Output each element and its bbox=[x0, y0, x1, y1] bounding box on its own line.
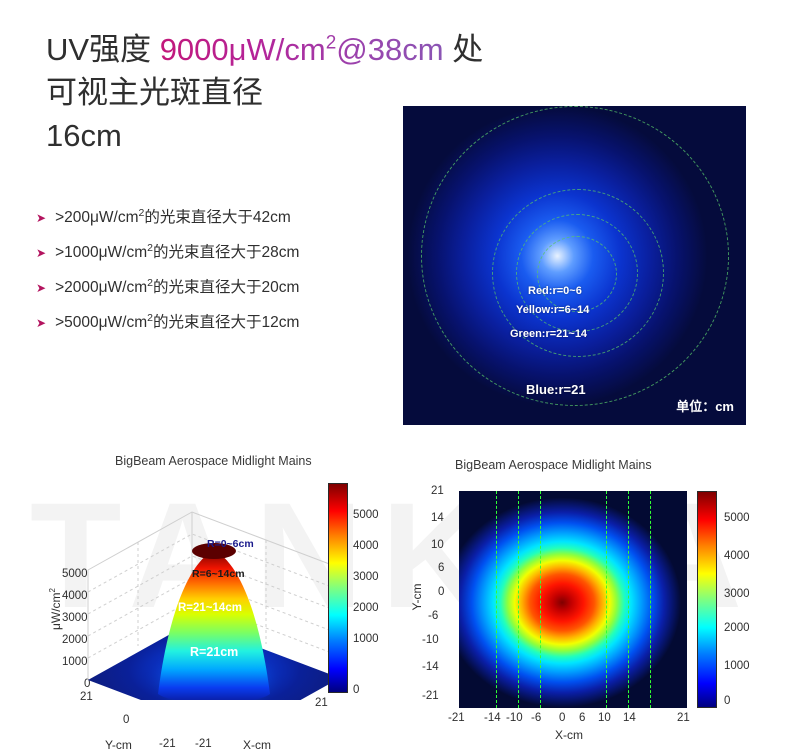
beam-label-blue: Blue:r=21 bbox=[526, 382, 586, 397]
ytick-6: 6 bbox=[438, 562, 444, 574]
ytick-10: 10 bbox=[431, 539, 444, 551]
list-item-suffix: 的光束直径大于20cm bbox=[153, 279, 299, 296]
xtick-21: 21 bbox=[677, 712, 690, 724]
xtick-neg21: -21 bbox=[448, 712, 465, 724]
ytick-14: 14 bbox=[431, 512, 444, 524]
xtick-neg14: -14 bbox=[484, 712, 501, 724]
xaxis-label: X-cm bbox=[243, 738, 271, 752]
list-item-suffix: 的光束直径大于12cm bbox=[153, 314, 299, 331]
colorbar-2d-tick-1000: 1000 bbox=[724, 660, 750, 672]
ytick-0: 0 bbox=[123, 714, 129, 726]
list-item: ➤ >200μW/cm2的光束直径大于42cm bbox=[36, 205, 299, 227]
colorbar-3d-tick-5000: 5000 bbox=[353, 509, 379, 521]
xtick-neg21: -21 bbox=[195, 738, 212, 750]
list-item: ➤ >2000μW/cm2的光束直径大于20cm bbox=[36, 275, 299, 297]
bullet-triangle-icon: ➤ bbox=[36, 247, 46, 259]
ytick-neg21: -21 bbox=[159, 738, 176, 750]
guide-line-neg14 bbox=[496, 491, 497, 708]
colorbar-3d-tick-4000: 4000 bbox=[353, 540, 379, 552]
xtick-neg10: -10 bbox=[506, 712, 523, 724]
list-item-prefix: >5000μW/cm bbox=[55, 314, 147, 331]
colorbar-3d-tick-1000: 1000 bbox=[353, 633, 379, 645]
beam-label-red: Red:r=0~6 bbox=[528, 285, 582, 297]
list-item: ➤ >1000μW/cm2的光束直径大于28cm bbox=[36, 240, 299, 262]
colorbar-2d-tick-5000: 5000 bbox=[724, 512, 750, 524]
surface-annotation-group: R=0~6cm R=6~14cm R=21~14cm R=21cm bbox=[40, 450, 370, 700]
heading-highlight-superscript: 2 bbox=[326, 33, 337, 54]
ytick-21: 21 bbox=[431, 485, 444, 497]
colorbar-2d-tick-4000: 4000 bbox=[724, 550, 750, 562]
heading-highlight-value: 9000μW/cm bbox=[160, 32, 326, 67]
uv-irradiance-2d-heatmap: BigBeam Aerospace Midlight Mains 21 14 1… bbox=[400, 450, 790, 720]
surface-annotation-r21: R=21cm bbox=[190, 645, 238, 659]
colorbar-2d-tick-0: 0 bbox=[724, 695, 730, 707]
list-item-suffix: 的光束直径大于28cm bbox=[153, 244, 299, 261]
beam-label-green: Green:r=21~14 bbox=[510, 328, 587, 340]
guide-line-14 bbox=[650, 491, 651, 708]
colorbar-3d-tick-0: 0 bbox=[353, 684, 359, 696]
heading-line-1: UV强度 9000μW/cm2@38cm 处 bbox=[46, 28, 566, 71]
beam-ring-red bbox=[537, 236, 617, 312]
surface-annotation-r21-14: R=21~14cm bbox=[178, 602, 242, 614]
colorbar-2d bbox=[697, 491, 717, 708]
ytick-0: 0 bbox=[438, 586, 444, 598]
bullet-triangle-icon: ➤ bbox=[36, 317, 46, 329]
beam-unit-label: 单位：cm bbox=[676, 396, 734, 415]
list-item-prefix: >1000μW/cm bbox=[55, 244, 147, 261]
colorbar-3d-tick-2000: 2000 bbox=[353, 602, 379, 614]
bullet-triangle-icon: ➤ bbox=[36, 282, 46, 294]
guide-line-neg10 bbox=[518, 491, 519, 708]
uv-irradiance-3d-surface: BigBeam Aerospace Midlight Mains 5000 40… bbox=[40, 450, 385, 710]
ytick-neg21: -21 bbox=[422, 690, 439, 702]
surface-annotation-r0-6: R=0~6cm bbox=[207, 538, 254, 550]
heading-highlight: 9000μW/cm2@38cm bbox=[160, 32, 444, 67]
surface-annotation-r6-14: R=6~14cm bbox=[192, 568, 245, 580]
guide-line-neg6 bbox=[540, 491, 541, 708]
list-item-prefix: >200μW/cm bbox=[55, 209, 138, 226]
heading-suffix: 处 bbox=[444, 32, 484, 67]
beam-label-yellow: Yellow:r=6~14 bbox=[516, 304, 589, 316]
xtick-neg6: -6 bbox=[531, 712, 541, 724]
chart-title-2d: BigBeam Aerospace Midlight Mains bbox=[455, 458, 652, 472]
heading-line-2: 可视主光斑直径 bbox=[46, 71, 566, 114]
colorbar-2d-tick-2000: 2000 bbox=[724, 622, 750, 634]
heading-block: UV强度 9000μW/cm2@38cm 处 可视主光斑直径 16cm bbox=[46, 28, 566, 157]
list-item: ➤ >5000μW/cm2的光束直径大于12cm bbox=[36, 310, 299, 332]
colorbar-3d-tick-3000: 3000 bbox=[353, 571, 379, 583]
xtick-0: 0 bbox=[559, 712, 565, 724]
ytick-neg14: -14 bbox=[422, 661, 439, 673]
xtick-10: 10 bbox=[598, 712, 611, 724]
xtick-14: 14 bbox=[623, 712, 636, 724]
list-item-prefix: >2000μW/cm bbox=[55, 279, 147, 296]
heading-line-3: 16cm bbox=[46, 114, 566, 157]
yaxis-label: Y-cm bbox=[105, 738, 132, 752]
bullet-triangle-icon: ➤ bbox=[36, 212, 46, 224]
colorbar-3d bbox=[328, 483, 348, 693]
list-item-text: >200μW/cm2的光束直径大于42cm bbox=[55, 205, 291, 227]
spec-bullet-list: ➤ >200μW/cm2的光束直径大于42cm ➤ >1000μW/cm2的光束… bbox=[36, 205, 299, 345]
colorbar-2d-tick-3000: 3000 bbox=[724, 588, 750, 600]
list-item-suffix: 的光束直径大于42cm bbox=[144, 209, 290, 226]
heatmap-blob bbox=[459, 491, 687, 708]
list-item-text: >2000μW/cm2的光束直径大于20cm bbox=[55, 275, 299, 297]
ytick-neg10: -10 bbox=[422, 634, 439, 646]
guide-line-10 bbox=[628, 491, 629, 708]
heatmap-canvas bbox=[459, 491, 687, 708]
heading-prefix: UV强度 bbox=[46, 32, 160, 67]
list-item-text: >5000μW/cm2的光束直径大于12cm bbox=[55, 310, 299, 332]
heading-highlight-distance: @38cm bbox=[336, 32, 443, 67]
xtick-6: 6 bbox=[579, 712, 585, 724]
list-item-text: >1000μW/cm2的光束直径大于28cm bbox=[55, 240, 299, 262]
xaxis-label: X-cm bbox=[555, 728, 583, 742]
guide-line-6 bbox=[606, 491, 607, 708]
yaxis-label: Y-cm bbox=[410, 572, 424, 622]
ytick-neg6: -6 bbox=[428, 610, 438, 622]
